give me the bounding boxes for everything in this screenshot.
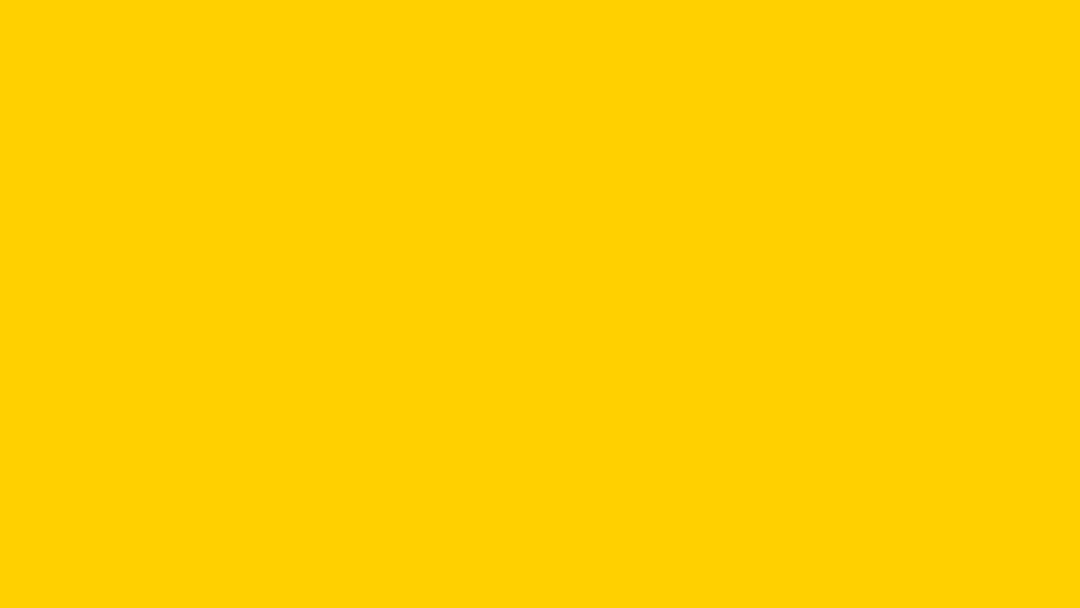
front-rim: [919, 504, 970, 556]
copy-block: DRIVE DRIVE THE DREAM EXPERIENCE THE FUT…: [10, 10, 434, 598]
poster-canvas: DRIVE DRIVE THE DREAM EXPERIENCE THE FUT…: [0, 0, 1080, 608]
photo-scene: [436, 60, 1038, 556]
headline-subline: THE DREAM: [74, 268, 334, 311]
hero-photo-frame: [434, 58, 1040, 558]
tagline-line-2: CARS: [10, 500, 422, 545]
headlight-left: [857, 462, 897, 499]
tagline-line-1: CUTTING-EDGE: [72, 447, 409, 492]
classic-car: [436, 283, 1026, 556]
driver-arm: [472, 383, 526, 400]
headlight-right: [977, 462, 1017, 499]
tagline-kicker: EXPERIENCE THE FUTURE: [74, 403, 431, 430]
headline-drive-group: DRIVE DRIVE: [72, 122, 422, 272]
driver-head: [493, 342, 518, 384]
headline-drive: DRIVE: [72, 122, 330, 208]
rear-rim: [522, 504, 573, 556]
poster-inner-plate: DRIVE DRIVE THE DREAM EXPERIENCE THE FUT…: [10, 10, 1070, 598]
hero-photo: [436, 60, 1038, 556]
